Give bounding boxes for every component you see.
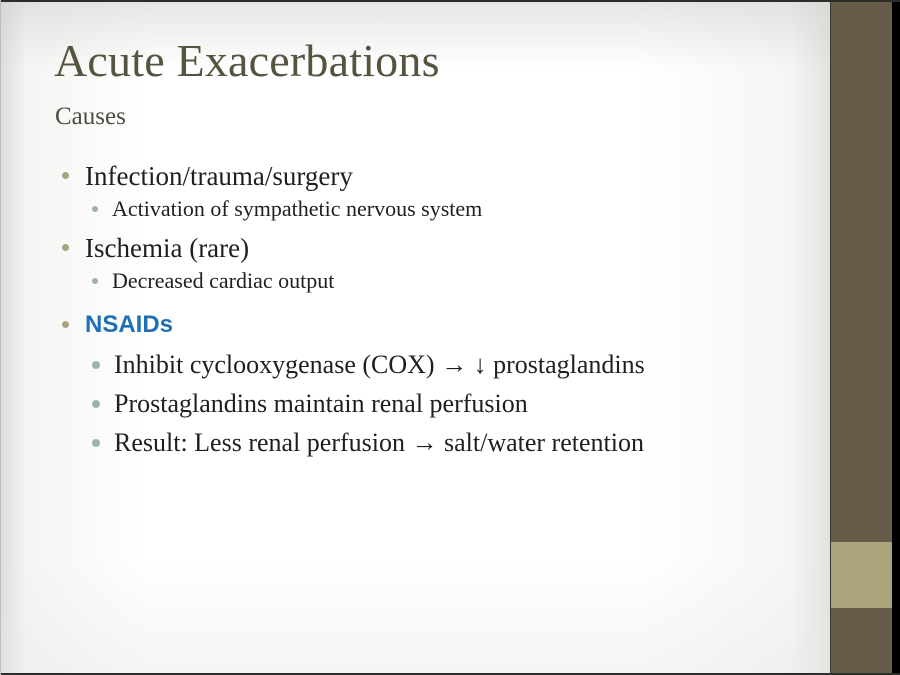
list-item: Infection/trauma/surgery [0,160,831,192]
slide-content-area: Acute Exacerbations Causes Infection/tra… [0,0,831,675]
list-item: Activation of sympathetic nervous system [0,195,831,223]
list-item-label-highlighted: NSAIDs [85,309,173,341]
list-item-label: Prostaglandins maintain renal perfusion [114,387,528,420]
bullet-list: Infection/trauma/surgery Activation of s… [0,160,831,465]
slide-right-edge [892,0,900,675]
list-item-label: Activation of sympathetic nervous system [112,195,482,223]
bullet-dot-icon [92,278,98,284]
bullet-dot-icon [62,172,69,179]
bullet-dot-icon [92,439,100,447]
list-item-label: Ischemia (rare) [85,232,249,264]
bullet-dot-icon [62,321,69,328]
list-item: Inhibit cyclooxygenase (COX) → ↓ prostag… [0,348,831,381]
bullet-dot-icon [62,244,69,251]
slide-decorative-sidebar [831,0,892,675]
list-item-label: Infection/trauma/surgery [85,160,353,192]
list-item-label: Inhibit cyclooxygenase (COX) → ↓ prostag… [114,348,645,381]
sidebar-accent-block [831,542,892,608]
list-spacer [0,300,831,309]
list-item-nsaids: NSAIDs [0,309,831,341]
slide-title: Acute Exacerbations [54,38,440,84]
slide-subtitle: Causes [55,104,126,129]
bullet-dot-icon [92,400,100,408]
presentation-slide: Acute Exacerbations Causes Infection/tra… [0,0,900,675]
bullet-dot-icon [92,361,100,369]
list-item: Decreased cardiac output [0,267,831,295]
list-item: Ischemia (rare) [0,232,831,264]
list-item-label: Result: Less renal perfusion → salt/wate… [114,426,644,459]
bullet-dot-icon [92,206,98,212]
list-item: Prostaglandins maintain renal perfusion [0,387,831,420]
list-item-label: Decreased cardiac output [112,267,334,295]
list-item: Result: Less renal perfusion → salt/wate… [0,426,831,459]
